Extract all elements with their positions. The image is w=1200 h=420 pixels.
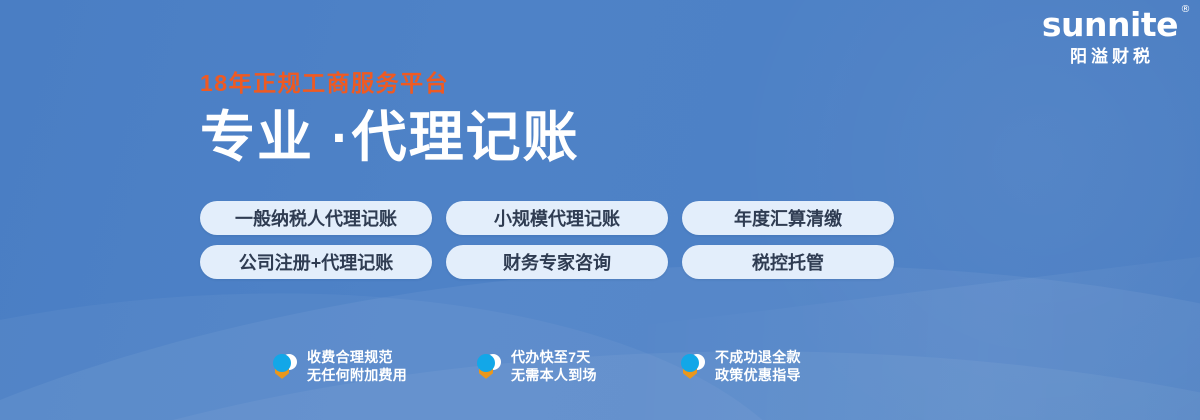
dot-shape [273,354,291,372]
feature-line-1: 收费合理规范 [307,349,407,367]
hero-headline: 专业 ·代理记账 [200,109,580,167]
brand-wordmark-text: sunnite [1042,5,1178,44]
feature-line-1: 不成功退全款 [715,349,801,367]
feature-line-1: 代办快至7天 [511,349,597,367]
service-pill-finance-expert-consulting[interactable]: 财务专家咨询 [446,245,668,279]
service-pill-tax-control-custody[interactable]: 税控托管 [682,245,894,279]
feature-text: 不成功退全款 政策优惠指导 [715,349,801,385]
feature-line-2: 无需本人到场 [511,367,597,385]
brand-logo[interactable]: sunnite ® 阳溢财税 [1042,8,1178,65]
dual-circle-badge-icon [272,352,298,382]
feature-text: 收费合理规范 无任何附加费用 [307,349,407,385]
dot-shape [477,354,495,372]
service-pill-grid: 一般纳税人代理记账 小规模代理记账 年度汇算清缴 公司注册+代理记账 财务专家咨… [200,201,894,279]
dot-shape [681,354,699,372]
dual-circle-badge-icon [680,352,706,382]
hero-eyebrow: 18年正规工商服务平台 [200,72,580,95]
feature-line-2: 无任何附加费用 [307,367,407,385]
brand-chinese-name: 阳溢财税 [1042,48,1178,65]
service-pill-general-taxpayer-bookkeeping[interactable]: 一般纳税人代理记账 [200,201,432,235]
feature-item-fast-processing: 代办快至7天 无需本人到场 [476,349,651,385]
feature-line-2: 政策优惠指导 [715,367,801,385]
feature-text: 代办快至7天 无需本人到场 [511,349,597,385]
brand-wordmark: sunnite ® [1042,8,1178,41]
registered-trademark-icon: ® [1181,5,1191,15]
feature-list: 收费合理规范 无任何附加费用 代办快至7天 无需本人到场 不成功退全款 [272,349,855,385]
marketing-banner: sunnite ® 阳溢财税 18年正规工商服务平台 专业 ·代理记账 一般纳税… [0,0,1200,420]
service-pill-annual-tax-settlement[interactable]: 年度汇算清缴 [682,201,894,235]
service-pill-row-1: 一般纳税人代理记账 小规模代理记账 年度汇算清缴 [200,201,894,235]
service-pill-company-registration-bookkeeping[interactable]: 公司注册+代理记账 [200,245,432,279]
feature-item-money-back-guarantee: 不成功退全款 政策优惠指导 [680,349,855,385]
dual-circle-badge-icon [476,352,502,382]
service-pill-small-scale-bookkeeping[interactable]: 小规模代理记账 [446,201,668,235]
feature-item-fair-pricing: 收费合理规范 无任何附加费用 [272,349,447,385]
hero-text-block: 18年正规工商服务平台 专业 ·代理记账 [200,72,580,167]
service-pill-row-2: 公司注册+代理记账 财务专家咨询 税控托管 [200,245,894,279]
